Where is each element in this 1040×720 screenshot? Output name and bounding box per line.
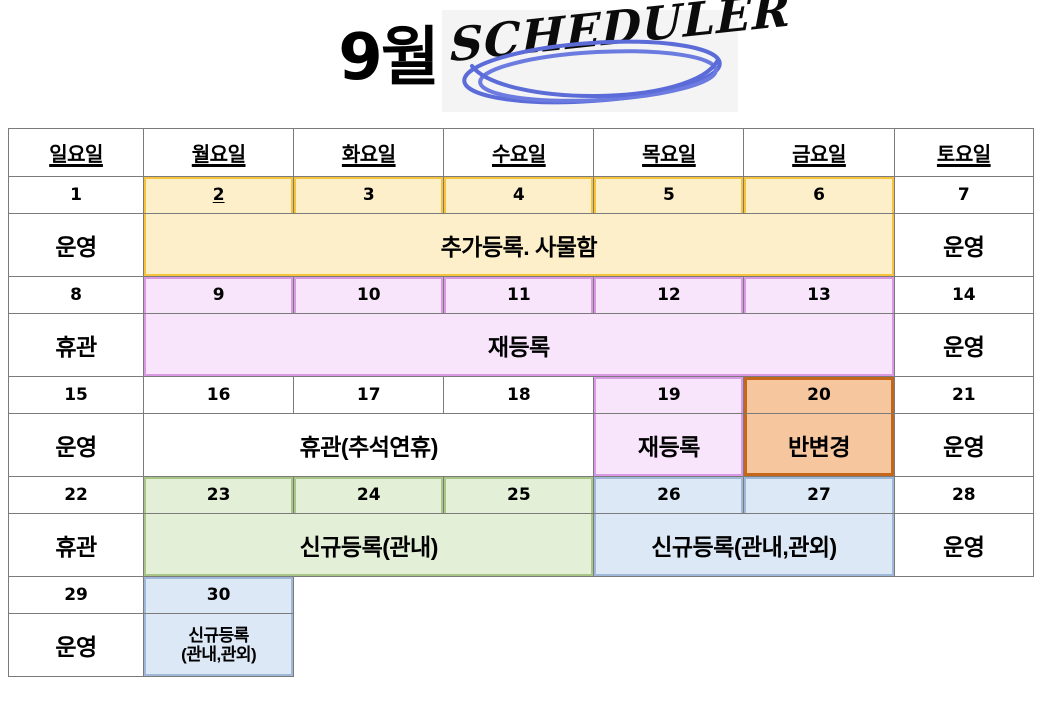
- weekday-label: 토요일: [937, 144, 991, 166]
- date-cell-8[interactable]: 8: [9, 277, 144, 314]
- date-label: 16: [207, 385, 231, 405]
- date-label: 18: [507, 385, 531, 405]
- empty-cell: [594, 577, 744, 614]
- date-cell-7[interactable]: 7: [894, 177, 1033, 214]
- empty-cell: [294, 577, 444, 614]
- date-cell-27[interactable]: 27: [744, 477, 894, 514]
- date-cell-20[interactable]: 20: [744, 377, 894, 414]
- weekday-label: 월요일: [192, 144, 246, 166]
- weekday-header-row: 일요일 월요일 화요일 수요일 목요일 금요일 토요일: [9, 129, 1034, 177]
- date-row-week4: 22 23 24 25 26 27 28: [9, 477, 1034, 514]
- date-label: 8: [70, 285, 82, 305]
- event-cell-operating-sun3[interactable]: 운영: [9, 414, 144, 477]
- date-cell-12[interactable]: 12: [594, 277, 744, 314]
- date-label: 12: [657, 285, 681, 305]
- event-cell-operating-sat4[interactable]: 운영: [894, 514, 1033, 577]
- empty-cell: [744, 577, 894, 614]
- event-line-1: 신규등록: [144, 626, 293, 645]
- date-cell-25[interactable]: 25: [444, 477, 594, 514]
- weekday-label: 화요일: [342, 144, 396, 166]
- event-row-week2: 휴관 재등록 운영: [9, 314, 1034, 377]
- date-cell-16[interactable]: 16: [144, 377, 294, 414]
- date-label: 22: [64, 485, 88, 505]
- event-cell-class-change-20[interactable]: 반변경: [744, 414, 894, 477]
- empty-cell: [894, 614, 1033, 677]
- date-row-week2: 8 9 10 11 12 13 14: [9, 277, 1034, 314]
- date-label: 7: [958, 185, 970, 205]
- date-cell-11[interactable]: 11: [444, 277, 594, 314]
- date-label: 21: [952, 385, 976, 405]
- date-cell-29[interactable]: 29: [9, 577, 144, 614]
- date-cell-1[interactable]: 1: [9, 177, 144, 214]
- date-cell-17[interactable]: 17: [294, 377, 444, 414]
- date-cell-15[interactable]: 15: [9, 377, 144, 414]
- date-cell-10[interactable]: 10: [294, 277, 444, 314]
- date-cell-26[interactable]: 26: [594, 477, 744, 514]
- empty-cell: [294, 614, 444, 677]
- scheduler-word-text: SCHEDULER: [450, 0, 791, 72]
- weekday-header-tue: 화요일: [294, 129, 444, 177]
- date-row-week5: 29 30: [9, 577, 1034, 614]
- weekday-label: 수요일: [492, 144, 546, 166]
- date-label: 28: [952, 485, 976, 505]
- date-label: 15: [64, 385, 88, 405]
- empty-cell: [594, 614, 744, 677]
- event-cell-operating-sun5[interactable]: 운영: [9, 614, 144, 677]
- empty-cell: [444, 577, 594, 614]
- date-label: 26: [657, 485, 681, 505]
- date-label: 1: [70, 185, 82, 205]
- event-cell-operating-sat3[interactable]: 운영: [894, 414, 1033, 477]
- date-label: 24: [357, 485, 381, 505]
- date-label: 20: [807, 385, 831, 405]
- event-cell-re-registration-week2[interactable]: 재등록: [144, 314, 894, 377]
- weekday-header-thu: 목요일: [594, 129, 744, 177]
- event-cell-new-registration-in-out[interactable]: 신규등록(관내,관외): [594, 514, 894, 577]
- event-row-week4: 휴관 신규등록(관내) 신규등록(관내,관외) 운영: [9, 514, 1034, 577]
- date-cell-19[interactable]: 19: [594, 377, 744, 414]
- date-label: 19: [657, 385, 681, 405]
- date-label: 25: [507, 485, 531, 505]
- event-row-week5: 운영 신규등록 (관내,관외): [9, 614, 1034, 677]
- date-cell-13[interactable]: 13: [744, 277, 894, 314]
- event-cell-new-registration-in[interactable]: 신규등록(관내): [144, 514, 594, 577]
- date-cell-18[interactable]: 18: [444, 377, 594, 414]
- date-row-week1: 1 2 3 4 5 6 7: [9, 177, 1034, 214]
- date-label: 2: [213, 185, 225, 205]
- date-label: 14: [952, 285, 976, 305]
- empty-cell: [444, 614, 594, 677]
- event-cell-closed-sun4[interactable]: 휴관: [9, 514, 144, 577]
- event-cell-extra-registration-locker[interactable]: 추가등록. 사물함: [144, 214, 894, 277]
- weekday-header-mon: 월요일: [144, 129, 294, 177]
- date-cell-14[interactable]: 14: [894, 277, 1033, 314]
- weekday-header-wed: 수요일: [444, 129, 594, 177]
- date-cell-21[interactable]: 21: [894, 377, 1033, 414]
- weekday-label: 금요일: [792, 144, 846, 166]
- date-label: 4: [513, 185, 525, 205]
- weekday-header-fri: 금요일: [744, 129, 894, 177]
- empty-cell: [744, 614, 894, 677]
- date-label: 10: [357, 285, 381, 305]
- date-label: 3: [363, 185, 375, 205]
- event-row-week3: 운영 휴관(추석연휴) 재등록 반변경 운영: [9, 414, 1034, 477]
- date-row-week3: 15 16 17 18 19 20 21: [9, 377, 1034, 414]
- date-label: 23: [207, 485, 231, 505]
- date-label: 5: [663, 185, 675, 205]
- weekday-label: 목요일: [642, 144, 696, 166]
- event-cell-closed-chuseok[interactable]: 휴관(추석연휴): [144, 414, 594, 477]
- date-cell-4[interactable]: 4: [444, 177, 594, 214]
- event-line-2: (관내,관외): [144, 645, 293, 664]
- date-cell-9[interactable]: 9: [144, 277, 294, 314]
- scheduler-logo: SCHEDULER: [442, 10, 738, 112]
- event-cell-operating-sun1[interactable]: 운영: [9, 214, 144, 277]
- event-cell-closed-sun2[interactable]: 휴관: [9, 314, 144, 377]
- date-cell-22[interactable]: 22: [9, 477, 144, 514]
- date-label: 30: [207, 585, 231, 605]
- date-cell-30[interactable]: 30: [144, 577, 294, 614]
- event-cell-new-registration-in-out-30[interactable]: 신규등록 (관내,관외): [144, 614, 294, 677]
- event-cell-re-registration-19[interactable]: 재등록: [594, 414, 744, 477]
- date-cell-5[interactable]: 5: [594, 177, 744, 214]
- event-cell-operating-sat2[interactable]: 운영: [894, 314, 1033, 377]
- date-label: 29: [64, 585, 88, 605]
- date-label: 13: [807, 285, 831, 305]
- empty-cell: [894, 577, 1033, 614]
- page-title-month: 9월: [338, 26, 437, 96]
- date-cell-2[interactable]: 2: [144, 177, 294, 214]
- date-cell-24[interactable]: 24: [294, 477, 444, 514]
- weekday-header-sun: 일요일: [9, 129, 144, 177]
- weekday-header-sat: 토요일: [894, 129, 1033, 177]
- date-cell-28[interactable]: 28: [894, 477, 1033, 514]
- date-cell-3[interactable]: 3: [294, 177, 444, 214]
- weekday-label: 일요일: [49, 144, 103, 166]
- date-cell-23[interactable]: 23: [144, 477, 294, 514]
- date-label: 9: [213, 285, 225, 305]
- date-label: 11: [507, 285, 531, 305]
- date-label: 27: [807, 485, 831, 505]
- monthly-scheduler-table: 일요일 월요일 화요일 수요일 목요일 금요일 토요일 1 2 3 4 5 6 …: [8, 128, 1034, 677]
- date-label: 17: [357, 385, 381, 405]
- title-banner: 9월 SCHEDULER: [0, 0, 1040, 122]
- date-label: 6: [813, 185, 825, 205]
- event-row-week1: 운영 추가등록. 사물함 운영: [9, 214, 1034, 277]
- event-cell-operating-sat1[interactable]: 운영: [894, 214, 1033, 277]
- date-cell-6[interactable]: 6: [744, 177, 894, 214]
